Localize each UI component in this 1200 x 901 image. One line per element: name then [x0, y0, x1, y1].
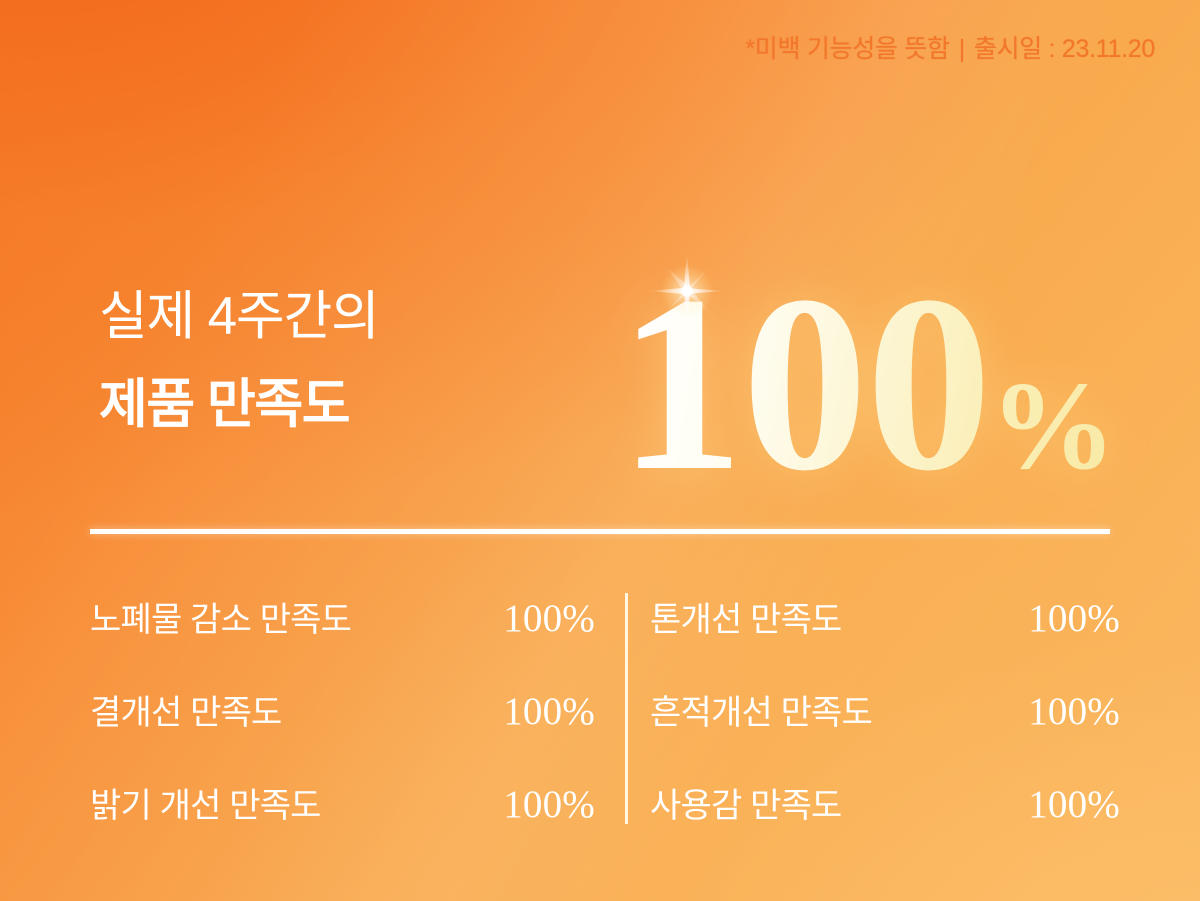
stat-value: 100% [475, 689, 595, 734]
stat-value: 100% [1000, 782, 1120, 827]
footnote-separator: | [950, 35, 974, 63]
stat-label: 결개선 만족도 [90, 685, 475, 734]
stat-label: 톤개선 만족도 [650, 592, 1000, 641]
stat-value: 100% [1000, 689, 1120, 734]
stat-row: 사용감 만족도 100% [650, 778, 1120, 830]
footnote-release-date: 출시일 : 23.11.20 [974, 35, 1155, 63]
stat-row: 톤개선 만족도 100% [650, 592, 1120, 644]
footnote-whitening-note: *미백 기능성을 뜻함 [745, 35, 949, 63]
highlight-number: 100 [618, 243, 990, 523]
promo-card: *미백 기능성을 뜻함|출시일 : 23.11.20 실제 4주간의 제품 만족… [0, 0, 1200, 901]
satisfaction-stats: 노폐물 감소 만족도 100% 결개선 만족도 100% 밝기 개선 만족도 1… [90, 592, 1120, 830]
vertical-divider [625, 593, 628, 824]
stat-value: 100% [1000, 596, 1120, 641]
highlight-percentage: 100% [618, 285, 1116, 482]
stat-value: 100% [475, 596, 595, 641]
stat-label: 밝기 개선 만족도 [90, 778, 475, 827]
stat-row: 밝기 개선 만족도 100% [90, 778, 595, 830]
stats-column-left: 노폐물 감소 만족도 100% 결개선 만족도 100% 밝기 개선 만족도 1… [90, 592, 595, 830]
highlight-percentage-block: 100% [600, 252, 1140, 482]
stat-row: 결개선 만족도 100% [90, 685, 595, 737]
highlight-percent-sign: % [990, 357, 1116, 496]
headline-block: 실제 4주간의 제품 만족도 [99, 286, 379, 436]
stat-label: 사용감 만족도 [650, 778, 1000, 827]
stat-label: 노폐물 감소 만족도 [90, 592, 475, 641]
stat-label: 흔적개선 만족도 [650, 685, 1000, 734]
headline-line-1: 실제 4주간의 [99, 286, 379, 349]
footnote-text: *미백 기능성을 뜻함|출시일 : 23.11.20 [745, 29, 1155, 65]
stat-row: 노폐물 감소 만족도 100% [90, 592, 595, 644]
horizontal-divider [90, 529, 1110, 534]
stat-row: 흔적개선 만족도 100% [650, 685, 1120, 737]
stats-column-right: 톤개선 만족도 100% 흔적개선 만족도 100% 사용감 만족도 100% [650, 592, 1120, 830]
stat-value: 100% [475, 782, 595, 827]
headline-line-2: 제품 만족도 [99, 374, 379, 437]
